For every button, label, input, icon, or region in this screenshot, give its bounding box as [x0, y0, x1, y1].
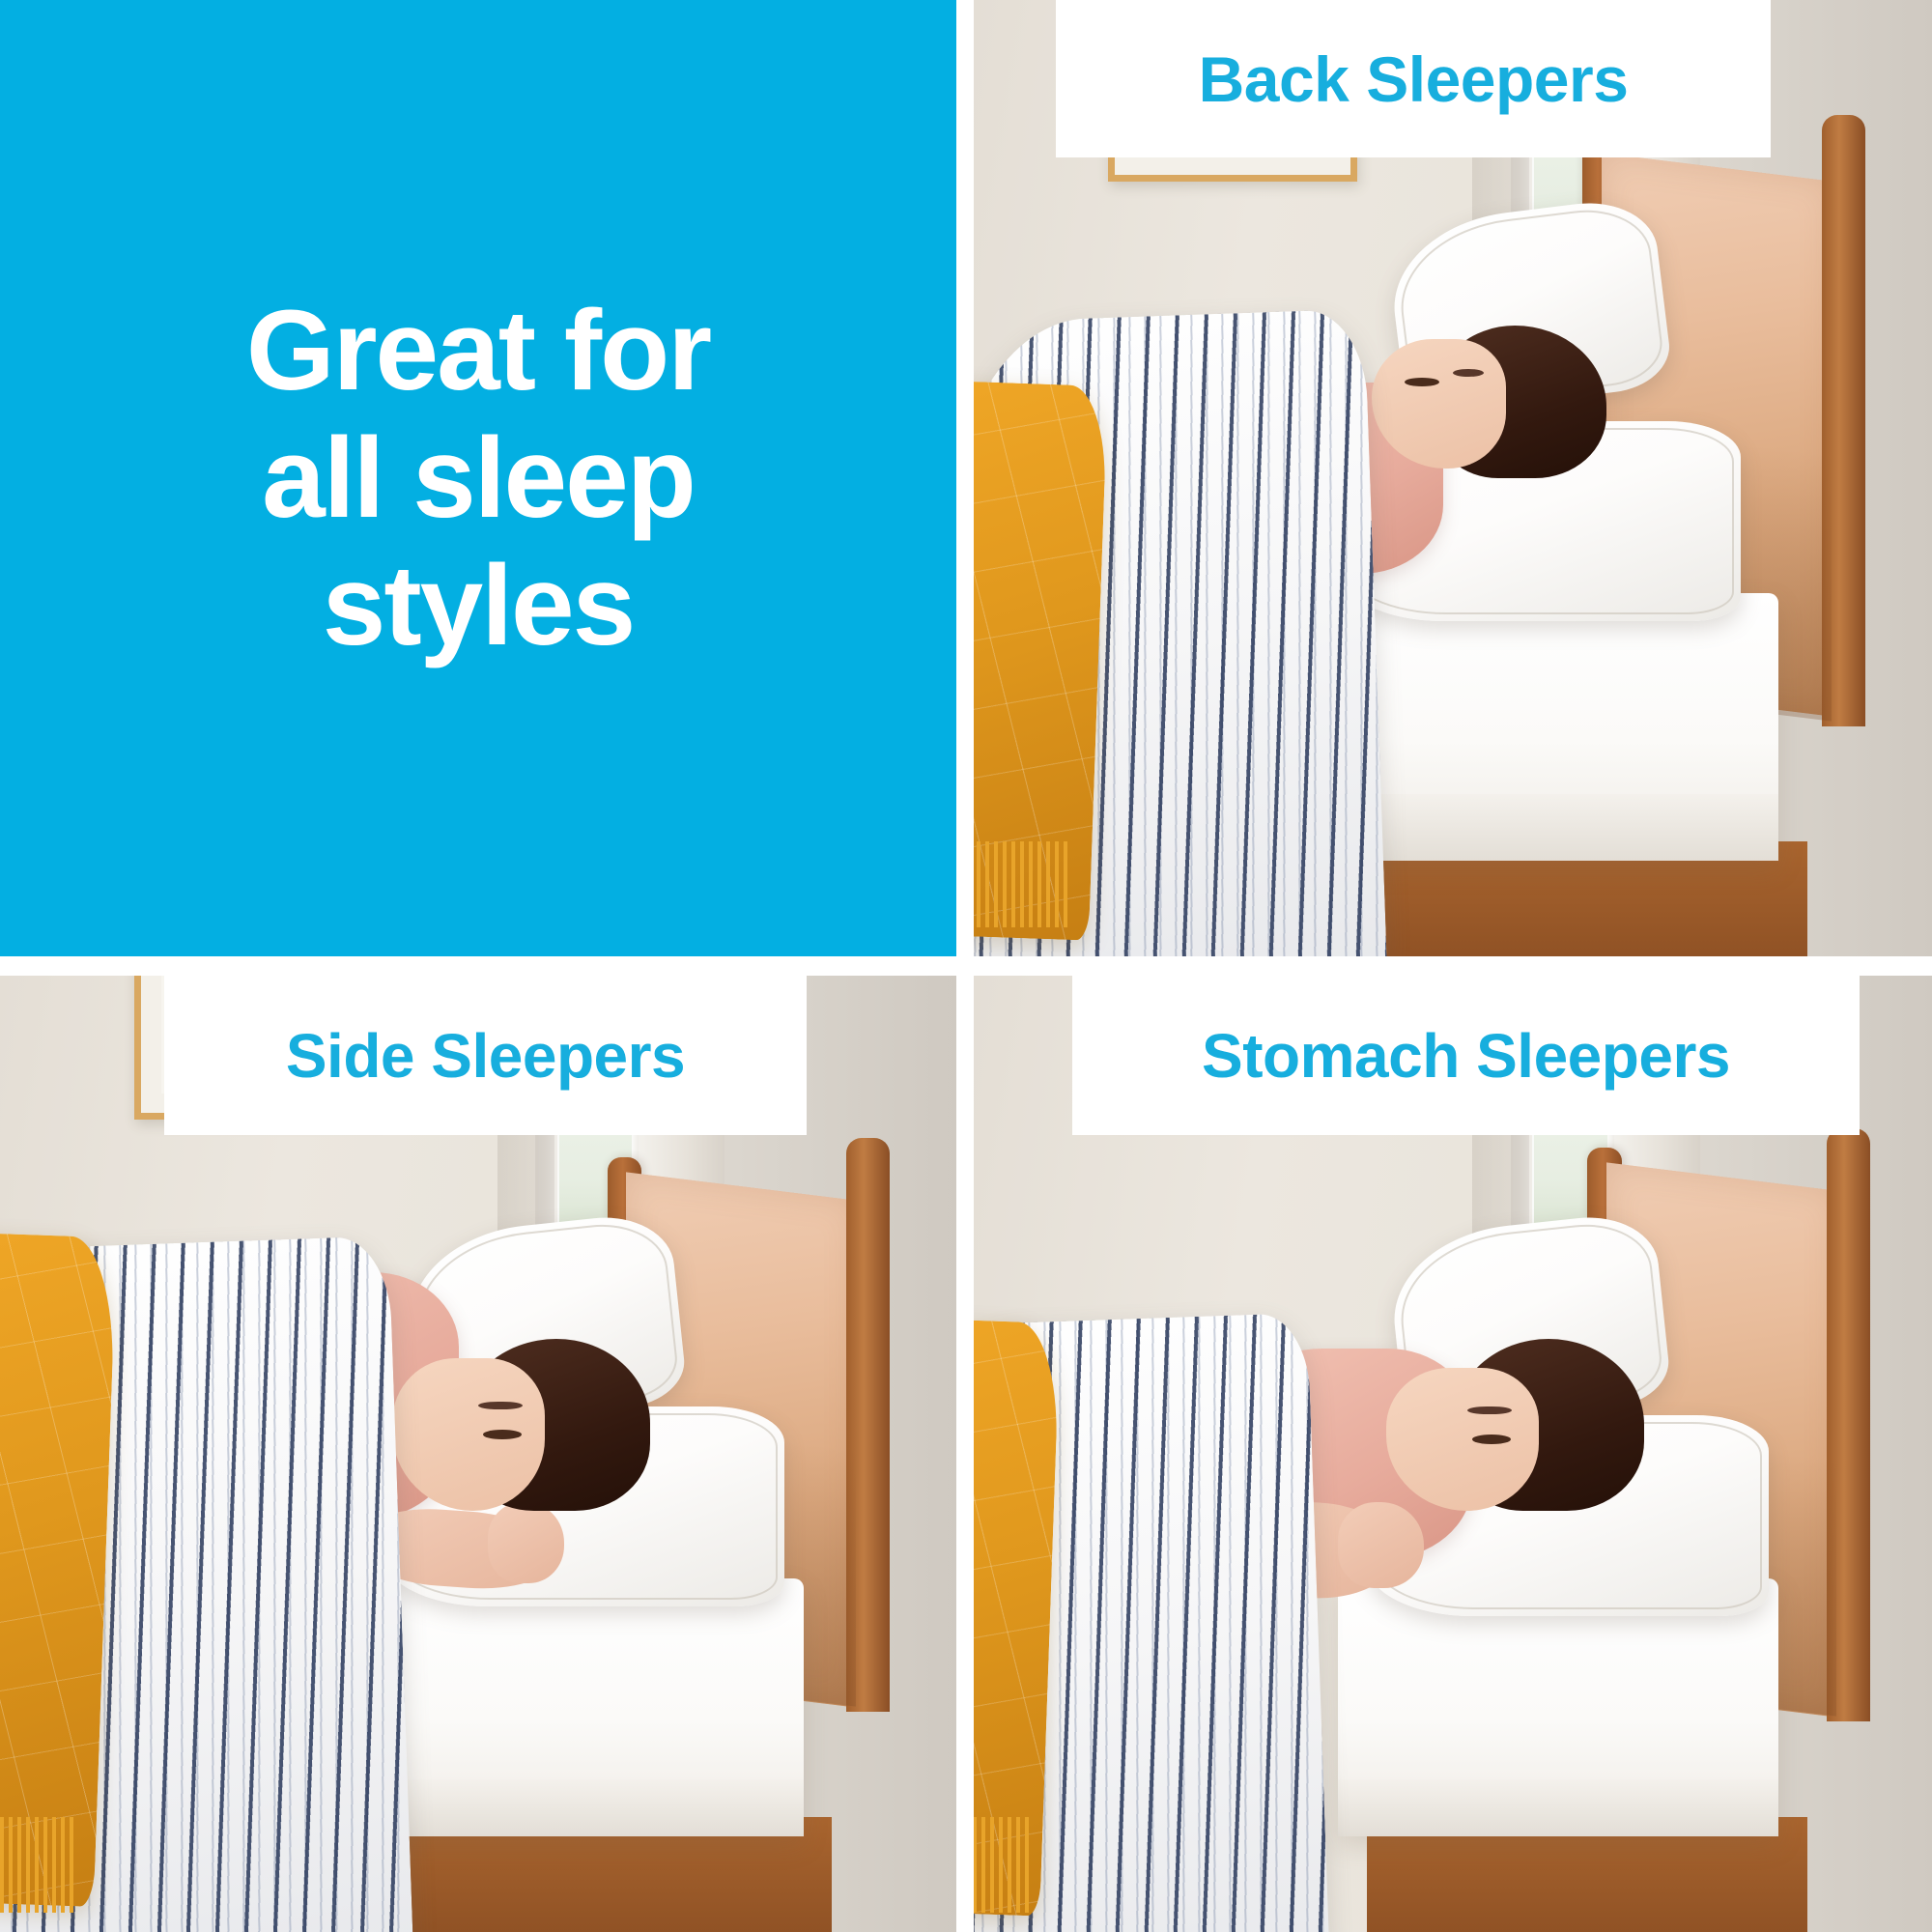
back-sleepers-photo: Back Sleepers	[974, 0, 1932, 956]
sleeper-hand	[488, 1502, 564, 1583]
back-sleepers-label-banner: Back Sleepers	[1056, 0, 1771, 157]
product-feature-collage: Great for all sleep styles	[0, 0, 1932, 1932]
mattress-side-panel	[383, 1779, 804, 1836]
sleeper-eye	[483, 1430, 522, 1439]
sleeper-hand	[1338, 1502, 1424, 1588]
promo-title: Great for all sleep styles	[169, 287, 787, 669]
stomach-sleepers-photo: Stomach Sleepers	[974, 976, 1932, 1932]
side-sleepers-label: Side Sleepers	[286, 1020, 685, 1092]
mattress-side-panel	[1357, 794, 1778, 861]
sleeper-eye-2	[1453, 369, 1484, 377]
stomach-sleepers-label-banner: Stomach Sleepers	[1072, 976, 1860, 1135]
sleeper-eye	[1405, 378, 1439, 386]
throw-fringe	[974, 1817, 1032, 1913]
mattress-side-panel	[1338, 1779, 1778, 1836]
throw-fringe	[0, 1817, 76, 1913]
side-sleepers-label-banner: Side Sleepers	[164, 976, 807, 1135]
sleeper-eyebrow	[1467, 1406, 1512, 1415]
side-sleepers-photo: Side Sleepers	[0, 976, 956, 1932]
stomach-sleepers-label: Stomach Sleepers	[1202, 1020, 1730, 1092]
sleeper-eye	[1472, 1435, 1511, 1444]
throw-fringe	[974, 841, 1069, 927]
back-sleepers-label: Back Sleepers	[1199, 43, 1629, 116]
promo-panel: Great for all sleep styles	[0, 0, 956, 956]
